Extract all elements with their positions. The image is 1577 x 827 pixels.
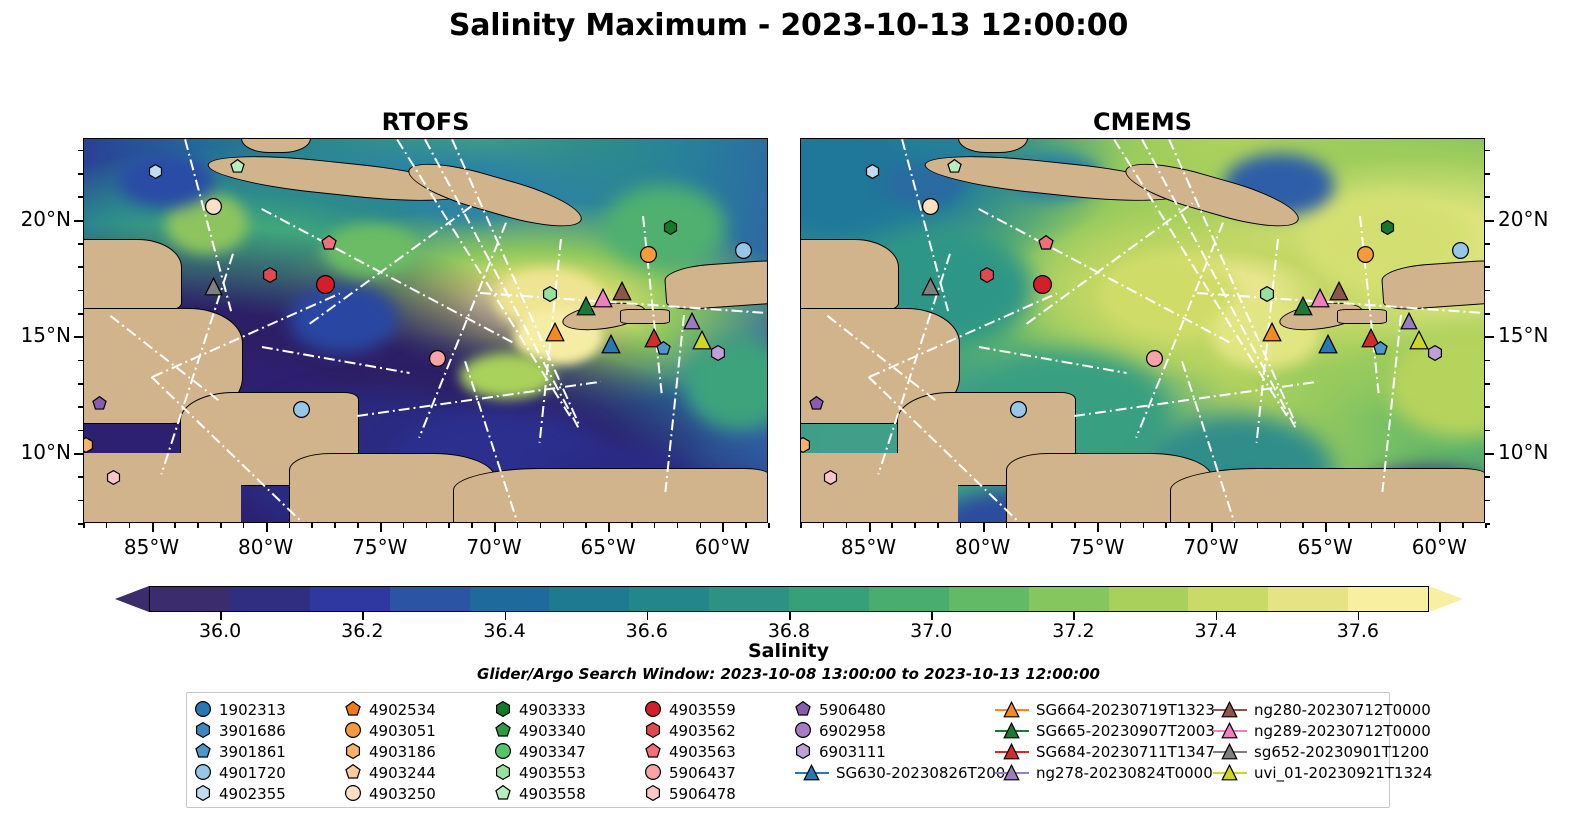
map-marker[interactable] bbox=[230, 159, 245, 178]
map-marker[interactable] bbox=[922, 198, 939, 219]
map-marker[interactable] bbox=[593, 288, 613, 312]
colorbar-tick bbox=[505, 612, 507, 620]
hexagon-marker-icon bbox=[345, 743, 362, 760]
legend-grid: 19023134902534490333349035595906480SG664… bbox=[187, 699, 1389, 804]
map-marker[interactable] bbox=[663, 220, 678, 239]
map-marker[interactable] bbox=[947, 159, 962, 178]
map-marker[interactable] bbox=[92, 396, 107, 415]
map-marker[interactable] bbox=[1146, 350, 1163, 371]
legend-item[interactable]: 4903559 bbox=[645, 701, 795, 719]
legend-line-marker bbox=[1213, 743, 1247, 760]
legend-item-label: 4903559 bbox=[669, 701, 736, 719]
x-ticklabel: 60°W bbox=[1394, 535, 1484, 559]
legend-item-label: ng280-20230712T0000 bbox=[1254, 701, 1431, 719]
x-tick bbox=[106, 523, 108, 528]
x-tick bbox=[334, 523, 336, 528]
panel-title-rtofs: RTOFS bbox=[83, 108, 768, 136]
x-tick bbox=[960, 523, 962, 528]
legend-item-label: 4903333 bbox=[519, 701, 586, 719]
pentagon-marker-icon bbox=[195, 743, 212, 760]
map-marker[interactable] bbox=[1380, 220, 1395, 239]
x-tick bbox=[1280, 523, 1282, 528]
legend-item-label: ng278-20230824T0000 bbox=[1036, 764, 1213, 782]
colorbar-tick bbox=[220, 612, 222, 620]
circle-marker-icon bbox=[345, 785, 362, 802]
colorbar-ticklabel: 37.2 bbox=[1018, 620, 1128, 642]
y-tick bbox=[1485, 150, 1490, 152]
map-marker[interactable] bbox=[640, 246, 657, 267]
search-window-subtitle: Glider/Argo Search Window: 2023-10-08 13… bbox=[0, 665, 1577, 683]
colorbar-band-1 bbox=[230, 587, 310, 611]
x-tick bbox=[700, 523, 702, 528]
colorbar-tick bbox=[362, 612, 364, 620]
legend-item[interactable]: 4903250 bbox=[345, 785, 495, 803]
colorbar-band-0 bbox=[150, 587, 230, 611]
x-tick bbox=[1074, 523, 1076, 528]
colorbar-band-15 bbox=[1348, 587, 1428, 611]
page-title: Salinity Maximum - 2023-10-13 12:00:00 bbox=[0, 8, 1577, 43]
x-tick bbox=[1462, 523, 1464, 528]
colorbar-band-3 bbox=[390, 587, 470, 611]
x-tick bbox=[152, 523, 154, 532]
colorbar-band-7 bbox=[709, 587, 789, 611]
x-tick bbox=[846, 523, 848, 528]
legend-item-label: 5906480 bbox=[819, 701, 886, 719]
map-marker[interactable] bbox=[1038, 235, 1054, 255]
x-tick bbox=[1371, 523, 1373, 528]
legend-item-label: 3901861 bbox=[219, 743, 286, 761]
pentagon-marker-icon bbox=[795, 701, 812, 718]
legend-item-label: sg652-20230901T1200 bbox=[1254, 743, 1429, 761]
pentagon-marker-icon bbox=[645, 743, 662, 760]
legend-item[interactable]: SG665-20230907T2003 bbox=[995, 722, 1213, 740]
legend-item-label: 5906437 bbox=[669, 764, 736, 782]
legend-line-marker bbox=[1213, 764, 1247, 781]
pentagon-marker-icon bbox=[345, 764, 362, 781]
x-tick bbox=[1120, 523, 1122, 528]
legend-item-label: 4903186 bbox=[369, 743, 436, 761]
map-marker[interactable] bbox=[1259, 286, 1275, 306]
colorbar-ticklabel: 36.2 bbox=[307, 620, 417, 642]
x-tick bbox=[540, 523, 542, 528]
legend-item[interactable]: SG630-20230826T2004 bbox=[795, 764, 995, 782]
map-marker[interactable] bbox=[106, 470, 121, 489]
x-tick bbox=[1188, 523, 1190, 528]
map-marker[interactable] bbox=[1310, 288, 1330, 312]
legend-item-label: 4902534 bbox=[369, 701, 436, 719]
map-marker[interactable] bbox=[205, 198, 222, 219]
map-marker[interactable] bbox=[800, 437, 811, 457]
legend-item[interactable]: ng278-20230824T0000 bbox=[995, 764, 1213, 782]
map-marker[interactable] bbox=[1427, 345, 1443, 365]
colorbar-band-10 bbox=[949, 587, 1029, 611]
circle-marker-icon bbox=[345, 722, 362, 739]
x-tick bbox=[174, 523, 176, 528]
x-tick bbox=[631, 523, 633, 528]
map-marker[interactable] bbox=[921, 277, 940, 300]
colorbar-band-13 bbox=[1188, 587, 1268, 611]
x-tick bbox=[585, 523, 587, 528]
colorbar-tick bbox=[647, 612, 649, 620]
legend-item-label: ng289-20230712T0000 bbox=[1254, 722, 1431, 740]
y-tick bbox=[78, 476, 83, 478]
y-tick bbox=[78, 313, 83, 315]
x-ticklabel: 80°W bbox=[938, 535, 1028, 559]
legend-item[interactable]: uvi_01-20230921T1324 bbox=[1213, 764, 1398, 782]
x-ticklabel: 60°W bbox=[677, 535, 767, 559]
x-tick bbox=[220, 523, 222, 528]
legend-item-label: 4903347 bbox=[519, 743, 586, 761]
x-tick bbox=[1348, 523, 1350, 528]
colorbar-band-11 bbox=[1029, 587, 1109, 611]
colorbar-band-8 bbox=[789, 587, 869, 611]
legend-line-marker bbox=[1213, 701, 1247, 718]
legend-box: 19023134902534490333349035595906480SG664… bbox=[186, 692, 1390, 808]
x-tick bbox=[289, 523, 291, 528]
map-panel-cmems[interactable] bbox=[800, 138, 1485, 523]
legend-item-label: 4903340 bbox=[519, 722, 586, 740]
x-tick bbox=[1485, 523, 1487, 528]
map-panel-rtofs[interactable] bbox=[83, 138, 768, 523]
legend-item-label: SG665-20230907T2003 bbox=[1036, 722, 1215, 740]
y-tick bbox=[78, 383, 83, 385]
x-tick bbox=[677, 523, 679, 528]
x-tick bbox=[1097, 523, 1099, 532]
colorbar-ticklabel: 36.0 bbox=[165, 620, 275, 642]
colorbar-band-6 bbox=[629, 587, 709, 611]
x-tick bbox=[1006, 523, 1008, 528]
x-tick bbox=[426, 523, 428, 528]
legend-line-marker bbox=[795, 764, 829, 781]
legend-item-label: 4903562 bbox=[669, 722, 736, 740]
colorbar-band-2 bbox=[310, 587, 390, 611]
x-tick bbox=[403, 523, 405, 528]
legend-item[interactable]: 4903340 bbox=[495, 722, 645, 740]
x-tick bbox=[357, 523, 359, 528]
legend-item[interactable]: 4902534 bbox=[345, 701, 495, 719]
x-tick bbox=[1051, 523, 1053, 528]
y-tick bbox=[78, 500, 83, 502]
x-ticklabel: 85°W bbox=[824, 535, 914, 559]
y-tick bbox=[78, 290, 83, 292]
y-tick bbox=[1485, 360, 1490, 362]
x-tick bbox=[517, 523, 519, 528]
x-tick bbox=[1143, 523, 1145, 528]
x-tick bbox=[800, 523, 802, 528]
y-tick bbox=[1485, 290, 1490, 292]
map-marker[interactable] bbox=[612, 281, 632, 305]
colorbar-tick bbox=[931, 612, 933, 620]
x-tick bbox=[494, 523, 496, 532]
legend-item-label: SG664-20230719T1323 bbox=[1036, 701, 1215, 719]
x-tick bbox=[471, 523, 473, 528]
map-marker[interactable] bbox=[710, 345, 726, 365]
x-tick bbox=[823, 523, 825, 528]
x-tick bbox=[1165, 523, 1167, 528]
y-ticklabel: 20°N bbox=[0, 207, 71, 231]
legend-item[interactable]: 3901686 bbox=[195, 722, 345, 740]
circle-marker-icon bbox=[645, 701, 662, 718]
legend-item[interactable]: 6903111 bbox=[795, 743, 995, 761]
legend-item[interactable]: 4903553 bbox=[495, 764, 645, 782]
x-tick bbox=[891, 523, 893, 528]
circle-marker-icon bbox=[195, 764, 212, 781]
legend-item[interactable]: 4903562 bbox=[645, 722, 795, 740]
legend-item-label: 1902313 bbox=[219, 701, 286, 719]
x-tick bbox=[243, 523, 245, 528]
y-ticklabel: 10°N bbox=[0, 440, 71, 464]
colorbar-band-14 bbox=[1268, 587, 1348, 611]
x-tick bbox=[745, 523, 747, 528]
x-tick bbox=[1211, 523, 1213, 532]
colorbar-tick bbox=[1358, 612, 1360, 620]
map-marker[interactable] bbox=[1452, 242, 1469, 263]
legend-item[interactable]: 6902958 bbox=[795, 722, 995, 740]
colorbar-band-12 bbox=[1109, 587, 1189, 611]
colorbar-extend-min bbox=[115, 586, 149, 612]
y-tick bbox=[78, 360, 83, 362]
legend-item[interactable]: sg652-20230901T1200 bbox=[1213, 743, 1398, 761]
legend-item-label: 4902355 bbox=[219, 785, 286, 803]
x-tick bbox=[983, 523, 985, 532]
pentagon-marker-icon bbox=[495, 785, 512, 802]
map-marker[interactable] bbox=[823, 470, 838, 489]
map-marker[interactable] bbox=[601, 334, 621, 358]
map-marker[interactable] bbox=[83, 437, 94, 457]
x-ticklabel: 70°W bbox=[449, 535, 539, 559]
legend-line-marker bbox=[1213, 722, 1247, 739]
map-marker[interactable] bbox=[865, 164, 880, 183]
legend-item[interactable]: 4903563 bbox=[645, 743, 795, 761]
legend-item[interactable]: SG684-20230711T1347 bbox=[995, 743, 1213, 761]
colorbar-tick bbox=[1073, 612, 1075, 620]
legend-item[interactable]: 4903347 bbox=[495, 743, 645, 761]
y-tick bbox=[78, 173, 83, 175]
x-ticklabel: 75°W bbox=[335, 535, 425, 559]
legend-item-label: 6903111 bbox=[819, 743, 886, 761]
map-marker[interactable] bbox=[1373, 341, 1388, 360]
legend-item[interactable]: 5906437 bbox=[645, 764, 795, 782]
hexagon-marker-icon bbox=[195, 722, 212, 739]
x-ticklabel: 70°W bbox=[1166, 535, 1256, 559]
x-tick bbox=[266, 523, 268, 532]
y-tick bbox=[1485, 266, 1490, 268]
legend-item[interactable]: 5906480 bbox=[795, 701, 995, 719]
legend-item-label: 4901720 bbox=[219, 764, 286, 782]
circle-marker-icon bbox=[195, 701, 212, 718]
legend-line-marker bbox=[995, 764, 1029, 781]
x-tick bbox=[1394, 523, 1396, 528]
map-marker[interactable] bbox=[429, 350, 446, 371]
map-marker[interactable] bbox=[735, 242, 752, 263]
map-marker[interactable] bbox=[656, 341, 671, 360]
x-tick bbox=[1325, 523, 1327, 532]
x-tick bbox=[914, 523, 916, 528]
y-tick bbox=[74, 453, 83, 455]
y-ticklabel: 10°N bbox=[1498, 440, 1548, 464]
legend-item[interactable]: 4902355 bbox=[195, 785, 345, 803]
y-tick bbox=[74, 220, 83, 222]
map-marker[interactable] bbox=[1033, 275, 1052, 298]
legend-item[interactable]: SG664-20230719T1323 bbox=[995, 701, 1213, 719]
y-tick bbox=[1485, 196, 1490, 198]
x-tick bbox=[722, 523, 724, 532]
x-tick bbox=[654, 523, 656, 528]
x-ticklabel: 65°W bbox=[1280, 535, 1370, 559]
hexagon-marker-icon bbox=[195, 785, 212, 802]
map-marker[interactable] bbox=[321, 235, 337, 255]
y-tick bbox=[1485, 313, 1490, 315]
y-ticklabel: 20°N bbox=[1498, 207, 1548, 231]
map-marker[interactable] bbox=[316, 275, 335, 298]
legend-item[interactable]: 5906478 bbox=[645, 785, 795, 803]
y-ticklabel: 15°N bbox=[1498, 323, 1548, 347]
y-tick bbox=[1485, 243, 1490, 245]
y-tick bbox=[78, 430, 83, 432]
circle-marker-icon bbox=[495, 743, 512, 760]
legend-item[interactable]: 4903051 bbox=[345, 722, 495, 740]
map-marker[interactable] bbox=[542, 286, 558, 306]
legend-item-label: uvi_01-20230921T1324 bbox=[1254, 764, 1432, 782]
legend-item[interactable]: 4903333 bbox=[495, 701, 645, 719]
hexagon-marker-icon bbox=[495, 764, 512, 781]
y-tick bbox=[78, 150, 83, 152]
map-marker[interactable] bbox=[545, 322, 565, 346]
y-tick bbox=[1485, 476, 1490, 478]
y-ticklabel: 15°N bbox=[0, 323, 71, 347]
map-marker[interactable] bbox=[148, 164, 163, 183]
colorbar-tick bbox=[1216, 612, 1218, 620]
legend-item[interactable]: 4903186 bbox=[345, 743, 495, 761]
map-marker[interactable] bbox=[1318, 334, 1338, 358]
colorbar-extend-max bbox=[1429, 586, 1463, 612]
hexagon-marker-icon bbox=[645, 722, 662, 739]
x-tick bbox=[83, 523, 85, 528]
circle-marker-icon bbox=[645, 764, 662, 781]
pentagon-marker-icon bbox=[495, 722, 512, 739]
x-ticklabel: 85°W bbox=[107, 535, 197, 559]
hexagon-marker-icon bbox=[495, 701, 512, 718]
legend-item-label: 4903558 bbox=[519, 785, 586, 803]
legend-item[interactable]: ng280-20230712T0000 bbox=[1213, 701, 1398, 719]
legend-item-label: 6902958 bbox=[819, 722, 886, 740]
x-tick bbox=[1417, 523, 1419, 528]
legend-item-label: 4903051 bbox=[369, 722, 436, 740]
circle-marker-icon bbox=[795, 722, 812, 739]
legend-line-marker bbox=[995, 743, 1029, 760]
map-marker[interactable] bbox=[1329, 281, 1349, 305]
colorbar-label: Salinity bbox=[0, 640, 1577, 662]
colorbar-ticklabel: 37.0 bbox=[876, 620, 986, 642]
colorbar[interactable] bbox=[115, 586, 1463, 612]
x-tick bbox=[1257, 523, 1259, 528]
x-tick bbox=[937, 523, 939, 528]
legend-item[interactable]: 3901861 bbox=[195, 743, 345, 761]
colorbar-ticklabel: 37.4 bbox=[1161, 620, 1271, 642]
legend-item[interactable]: 4903558 bbox=[495, 785, 645, 803]
x-tick bbox=[129, 523, 131, 528]
map-marker[interactable] bbox=[204, 277, 223, 300]
x-tick bbox=[311, 523, 313, 528]
x-tick bbox=[869, 523, 871, 532]
y-tick bbox=[74, 336, 83, 338]
legend-item-label: SG684-20230711T1347 bbox=[1036, 743, 1215, 761]
legend-item-label: 4903553 bbox=[519, 764, 586, 782]
colorbar-ticklabel: 36.4 bbox=[450, 620, 560, 642]
y-tick bbox=[1485, 453, 1494, 455]
map-marker[interactable] bbox=[1357, 246, 1374, 267]
legend-item-label: SG630-20230826T2004 bbox=[836, 764, 1015, 782]
y-tick bbox=[1485, 336, 1494, 338]
legend-item-label: 4903244 bbox=[369, 764, 436, 782]
x-tick bbox=[768, 523, 770, 528]
legend-line-marker bbox=[995, 701, 1029, 718]
y-tick bbox=[78, 196, 83, 198]
y-tick bbox=[1485, 500, 1490, 502]
legend-item[interactable]: 1902313 bbox=[195, 701, 345, 719]
x-ticklabel: 65°W bbox=[563, 535, 653, 559]
colorbar-band-9 bbox=[869, 587, 949, 611]
legend-item-label: 5906478 bbox=[669, 785, 736, 803]
x-tick bbox=[1302, 523, 1304, 528]
x-ticklabel: 80°W bbox=[221, 535, 311, 559]
y-tick bbox=[78, 243, 83, 245]
y-tick bbox=[78, 406, 83, 408]
colorbar-ticklabel: 36.8 bbox=[734, 620, 844, 642]
y-tick bbox=[78, 266, 83, 268]
x-tick bbox=[1234, 523, 1236, 528]
colorbar-ticklabel: 37.6 bbox=[1303, 620, 1413, 642]
legend-item-label: 4903250 bbox=[369, 785, 436, 803]
x-tick bbox=[1028, 523, 1030, 528]
legend-item[interactable]: 4903244 bbox=[345, 764, 495, 782]
map-marker[interactable] bbox=[262, 267, 278, 287]
colorbar-band-5 bbox=[549, 587, 629, 611]
x-ticklabel: 75°W bbox=[1052, 535, 1142, 559]
colorbar-band-4 bbox=[470, 587, 550, 611]
y-tick bbox=[1485, 173, 1490, 175]
map-marker[interactable] bbox=[979, 267, 995, 287]
hexagon-marker-icon bbox=[645, 785, 662, 802]
map-marker[interactable] bbox=[1262, 322, 1282, 346]
y-tick bbox=[1485, 220, 1494, 222]
panel-title-cmems: CMEMS bbox=[800, 108, 1485, 136]
hexagon-marker-icon bbox=[795, 743, 812, 760]
colorbar-bands bbox=[149, 586, 1429, 612]
colorbar-ticklabel: 36.6 bbox=[592, 620, 702, 642]
x-tick bbox=[608, 523, 610, 532]
map-marker[interactable] bbox=[809, 396, 824, 415]
x-tick bbox=[448, 523, 450, 528]
legend-item[interactable]: ng289-20230712T0000 bbox=[1213, 722, 1398, 740]
y-tick bbox=[1485, 406, 1490, 408]
colorbar-tick bbox=[789, 612, 791, 620]
x-tick bbox=[1439, 523, 1441, 532]
y-tick bbox=[1485, 430, 1490, 432]
x-tick bbox=[380, 523, 382, 532]
legend-line-marker bbox=[995, 722, 1029, 739]
x-tick bbox=[563, 523, 565, 528]
map-marker[interactable] bbox=[1010, 401, 1027, 422]
map-marker[interactable] bbox=[293, 401, 310, 422]
legend-item-label: 3901686 bbox=[219, 722, 286, 740]
legend-item[interactable]: 4901720 bbox=[195, 764, 345, 782]
pentagon-marker-icon bbox=[345, 701, 362, 718]
x-tick bbox=[197, 523, 199, 528]
legend-item-label: 4903563 bbox=[669, 743, 736, 761]
y-tick bbox=[1485, 383, 1490, 385]
